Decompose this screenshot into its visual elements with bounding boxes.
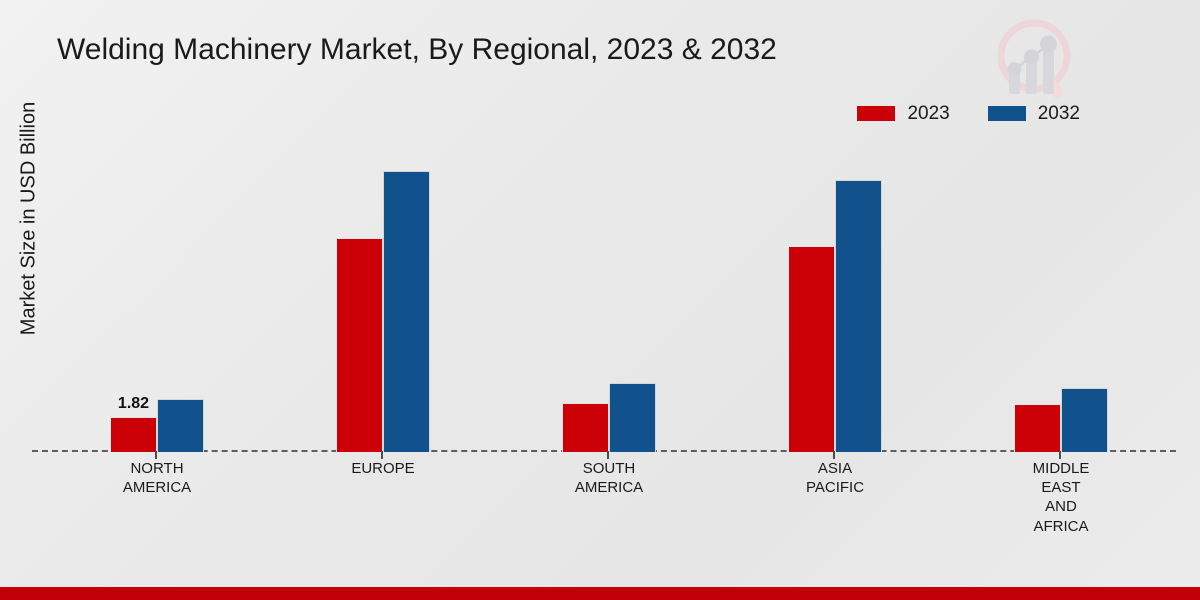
bar-group [788,140,882,452]
bar-group [562,140,656,452]
x-axis-tick [155,451,157,459]
category-label-line: AMERICA [529,478,689,497]
category-label: EUROPE [303,459,463,478]
bar-2023[interactable] [336,238,383,452]
category-label: MIDDLEEASTANDAFRICA [981,459,1141,536]
legend-swatch-2032 [988,106,1026,121]
category-label-line: PACIFIC [755,478,915,497]
category-label: SOUTHAMERICA [529,459,689,497]
legend-label-2032: 2032 [1038,104,1080,123]
category-label-line: MIDDLE [981,459,1141,478]
category-label-line: AMERICA [77,478,237,497]
legend-item-2023[interactable]: 2023 [857,104,949,123]
x-axis-tick [1059,451,1061,459]
category-label-line: AND [981,497,1141,516]
category-label-line: AFRICA [981,517,1141,536]
category-label-line: EAST [981,478,1141,497]
bar-2032[interactable] [835,180,882,452]
bar-2023[interactable] [562,403,609,452]
bar-group [336,140,430,452]
bar-2032[interactable] [609,383,656,452]
bar-group: 1.82 [110,140,204,452]
bar-value-label: 1.82 [118,395,149,413]
category-label-line: ASIA [755,459,915,478]
x-axis-tick [833,451,835,459]
category-label: NORTHAMERICA [77,459,237,497]
bar-2032[interactable] [157,399,204,452]
bar-2023[interactable]: 1.82 [110,417,157,452]
chart-title: Welding Machinery Market, By Regional, 2… [57,33,777,67]
category-label-line: NORTH [77,459,237,478]
bar-group [1014,140,1108,452]
plot-area: 1.82 [0,140,1200,452]
category-label-line: SOUTH [529,459,689,478]
legend-swatch-2023 [857,106,895,121]
legend-item-2032[interactable]: 2032 [988,104,1080,123]
legend-label-2023: 2023 [907,104,949,123]
chart-legend: 2023 2032 [857,104,1080,123]
watermark-logo [985,14,1081,106]
category-label: ASIAPACIFIC [755,459,915,497]
bar-2023[interactable] [1014,404,1061,452]
chart-container: Welding Machinery Market, By Regional, 2… [0,0,1200,600]
x-axis-tick [381,451,383,459]
bar-2032[interactable] [383,171,430,452]
bottom-accent-bar [0,587,1200,600]
bar-2023[interactable] [788,246,835,452]
category-label-line: EUROPE [303,459,463,478]
bar-2032[interactable] [1061,388,1108,452]
x-axis-tick [607,451,609,459]
